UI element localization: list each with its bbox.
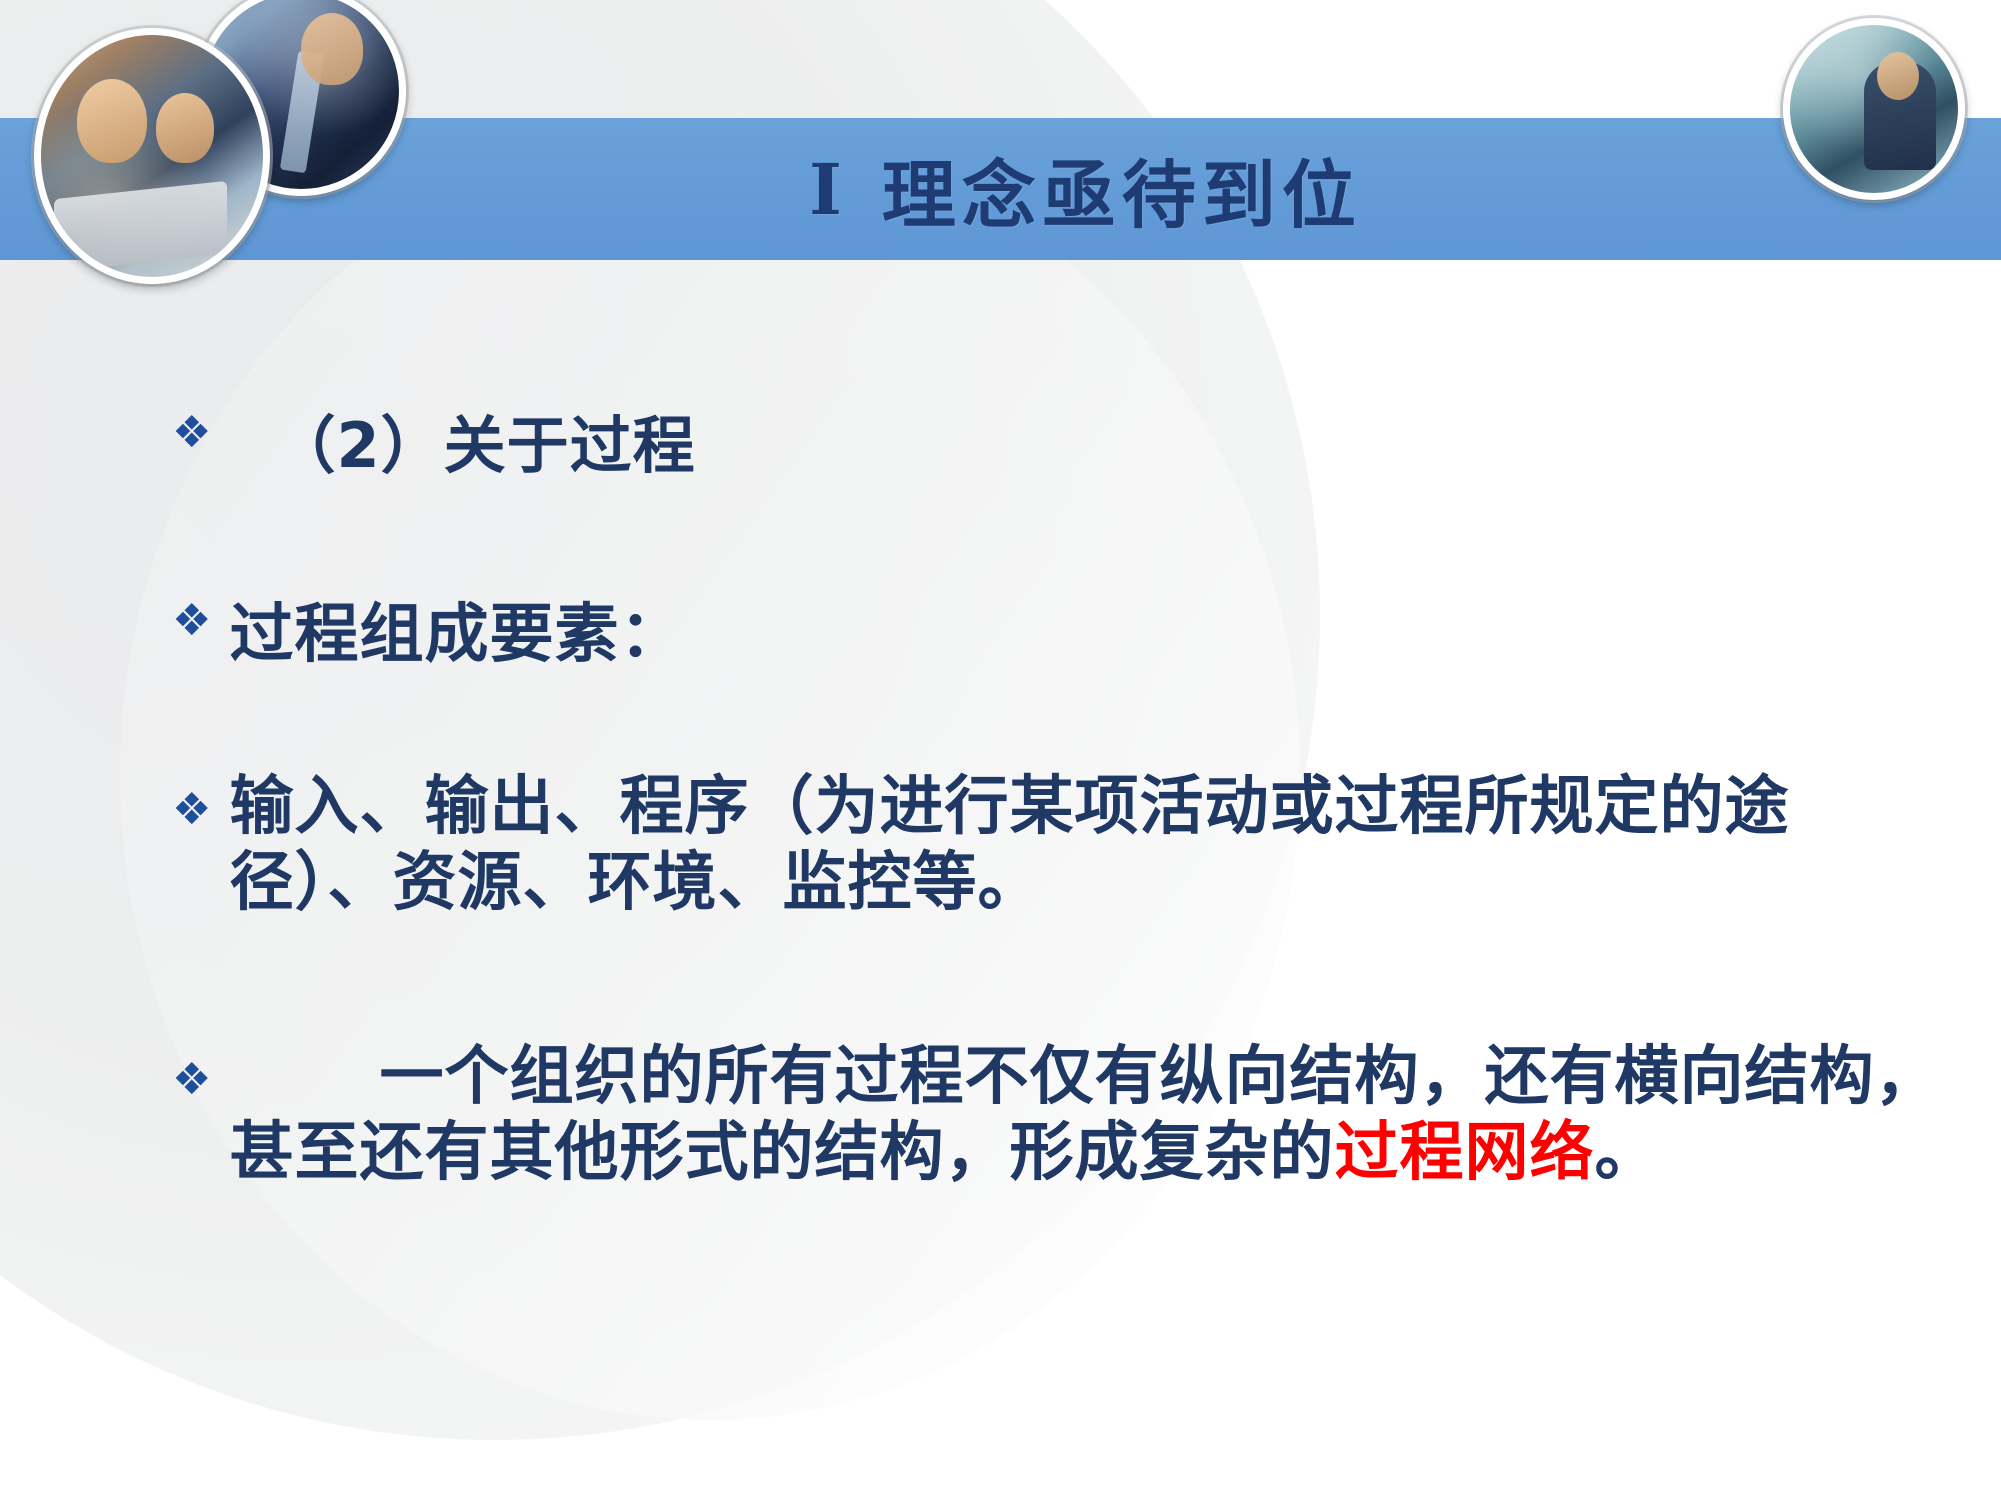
bullet-item-1-text: （2）关于过程 [229,395,1872,485]
photo-b-detail-face-2 [156,93,214,163]
slide-body: ❖ （2）关于过程 ❖ 过程组成要素： ❖ 输入、输出、程序（为进行某项活动或过… [0,270,2001,1501]
diamond-bullet-icon: ❖ [172,1058,211,1102]
photo-office-workers-laptop-icon [34,28,270,284]
bullet-item-1: ❖ （2）关于过程 [172,395,1872,485]
slide-canvas: I 理念亟待到位 ❖ （2）关于过程 ❖ 过程组成要素： ❖ 输入、输出、程序（… [0,0,2001,1501]
bullet-item-2-text: 过程组成要素： [229,583,1872,675]
title-numeral: I [809,148,848,231]
bullet-item-3: ❖ 输入、输出、程序（为进行某项活动或过程所规定的途径）、资源、环境、监控等。 [172,770,1932,921]
bullet-item-4-text-lead: 一个组织的所有过程不仅有纵向结构，还有横向结构，甚至还有其他形式的结构，形成复杂… [229,1040,1939,1190]
diamond-bullet-icon: ❖ [172,599,211,643]
photo-presenter-whiteboard-icon [1783,18,1965,200]
bullet-item-3-text: 输入、输出、程序（为进行某项活动或过程所规定的途径）、资源、环境、监控等。 [229,770,1932,921]
title-text: 理念亟待到位 [882,136,1362,243]
photo-c-detail-head [1877,52,1919,100]
bullet-item-4-highlight: 过程网络 [1334,1116,1594,1190]
bullet-item-4-text: 一个组织的所有过程不仅有纵向结构，还有横向结构，甚至还有其他形式的结构，形成复杂… [229,1040,1952,1191]
photo-a-detail-face [301,13,363,85]
diamond-bullet-icon: ❖ [172,411,211,455]
photo-b-detail-laptop [54,181,227,272]
bullet-item-2: ❖ 过程组成要素： [172,583,1872,675]
bullet-item-4: ❖ 一个组织的所有过程不仅有纵向结构，还有横向结构，甚至还有其他形式的结构，形成… [172,1040,1952,1191]
photo-b-detail-face-1 [77,79,147,163]
diamond-bullet-icon: ❖ [172,788,211,832]
bullet-item-4-text-tail: 。 [1594,1116,1659,1190]
